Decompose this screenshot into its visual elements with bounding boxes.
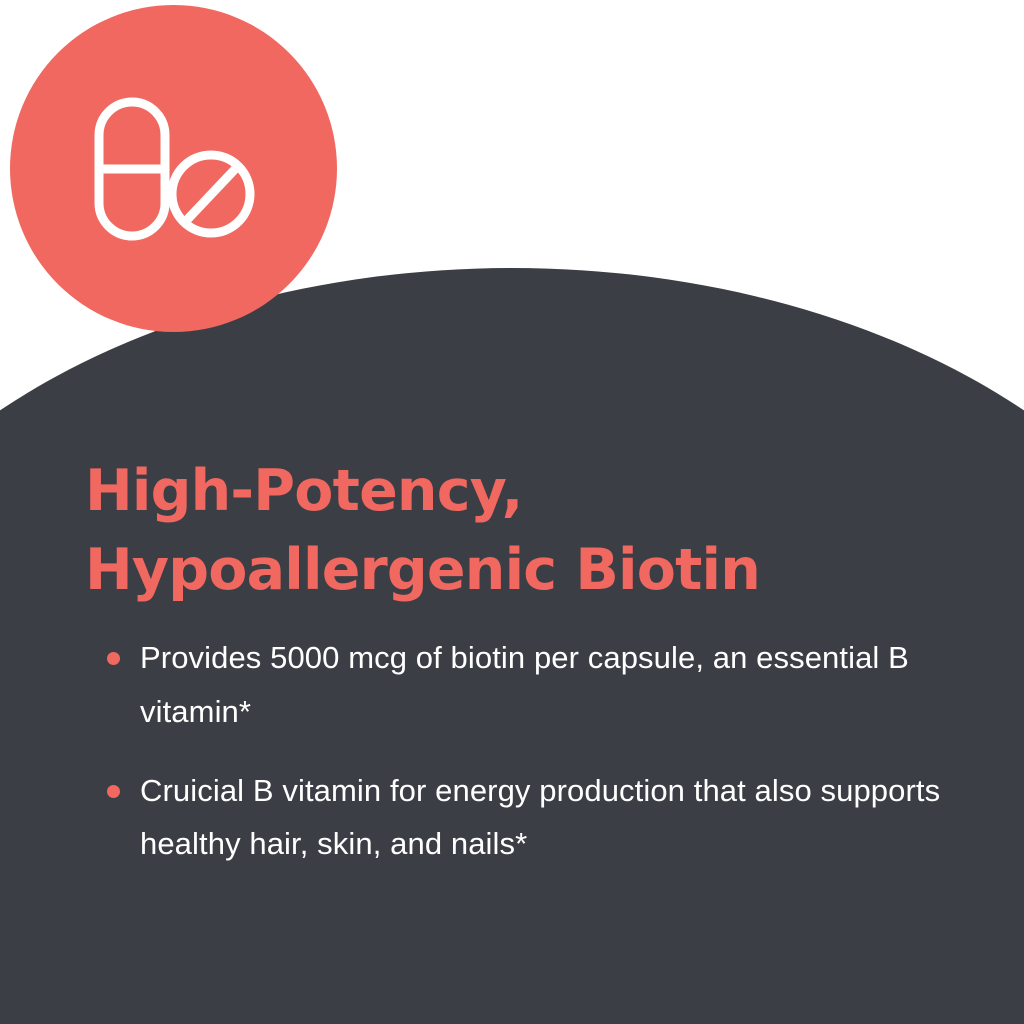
bullet-dot-icon	[107, 652, 120, 665]
product-feature-card: High-Potency, Hypoallergenic Biotin Prov…	[0, 0, 1024, 1024]
headline-line-1: High-Potency,	[85, 452, 975, 531]
pills-capsule-icon	[89, 94, 259, 244]
feature-list: Provides 5000 mcg of biotin per capsule,…	[85, 631, 975, 870]
content-block: High-Potency, Hypoallergenic Biotin Prov…	[85, 452, 975, 871]
list-item: Provides 5000 mcg of biotin per capsule,…	[85, 631, 975, 738]
pill-badge	[10, 5, 337, 332]
list-item-label: Provides 5000 mcg of biotin per capsule,…	[140, 631, 975, 738]
page-title: High-Potency, Hypoallergenic Biotin	[85, 452, 975, 609]
list-item: Cruicial B vitamin for energy production…	[85, 764, 975, 871]
list-item-label: Cruicial B vitamin for energy production…	[140, 764, 975, 871]
bullet-dot-icon	[107, 785, 120, 798]
headline-line-2: Hypoallergenic Biotin	[85, 531, 975, 610]
